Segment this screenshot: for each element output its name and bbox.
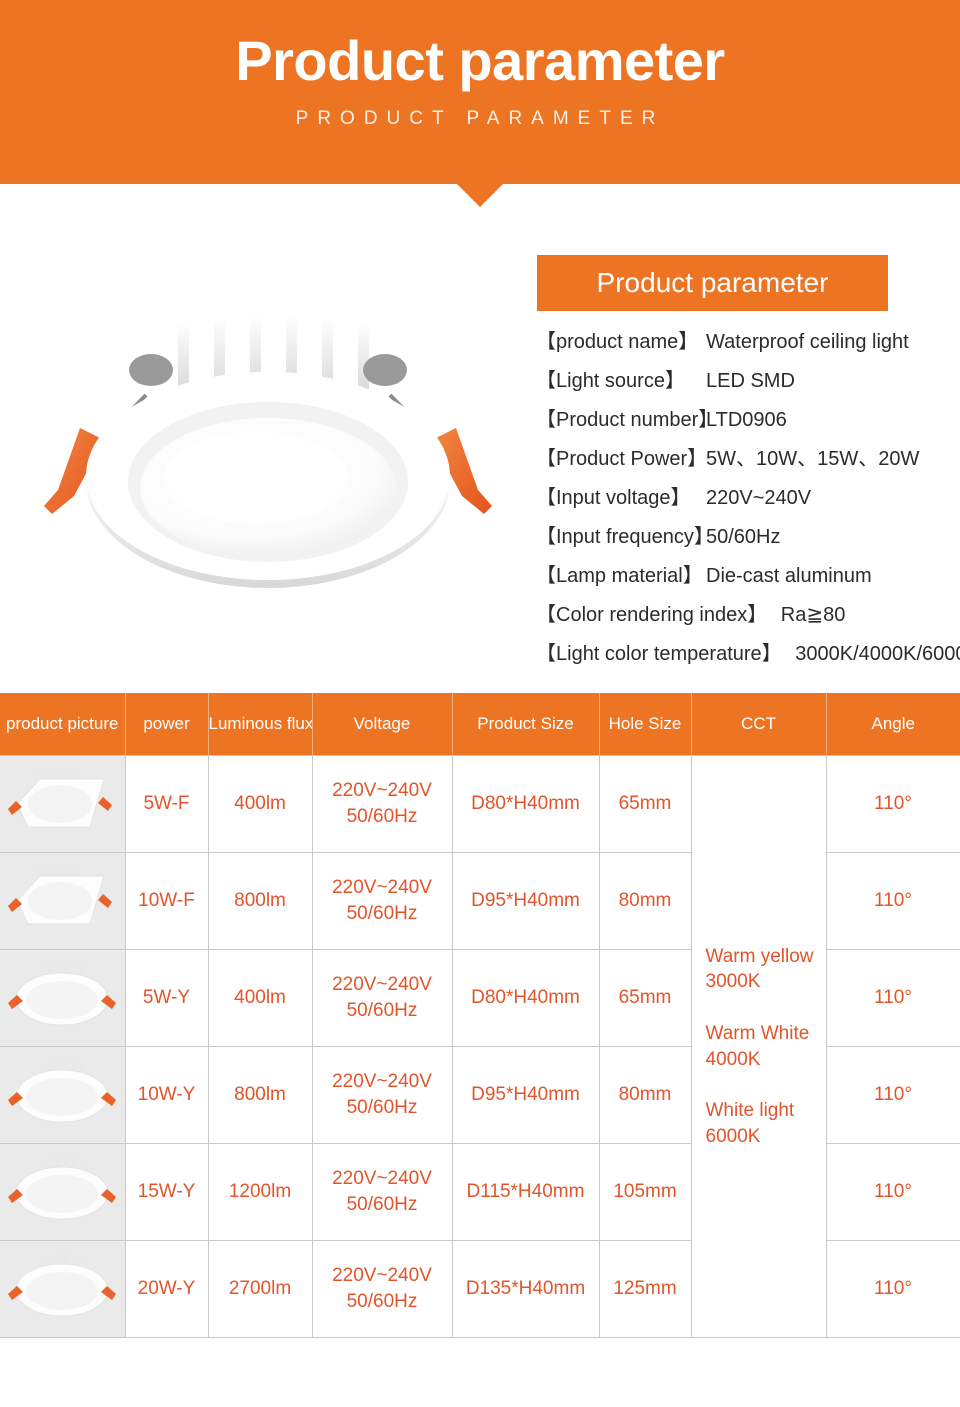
voltage-line-1: 220V~240V — [313, 972, 452, 998]
voltage-line-2: 50/60Hz — [313, 998, 452, 1024]
spec-label: 【Product number】 — [536, 403, 706, 432]
voltage-line-1: 220V~240V — [313, 875, 452, 901]
voltage-line-2: 50/60Hz — [313, 804, 452, 830]
round-downlight-thumb-icon — [0, 1242, 125, 1336]
spec-label: 【Color rendering index】 — [536, 604, 767, 626]
spec-label: 【Lamp material】 — [536, 559, 706, 588]
hole-size-cell: 80mm — [599, 1047, 691, 1144]
banner-subtitle: PRODUCT PARAMETER — [0, 106, 960, 132]
banner-title: Product parameter — [0, 28, 960, 94]
hole-size-cell: 65mm — [599, 950, 691, 1047]
column-header-hole-size: Hole Size — [599, 693, 691, 756]
spec-row: 【Input voltage】 220V~240V — [536, 481, 956, 520]
square-downlight-thumb-icon — [0, 757, 125, 851]
cct-name: Warm yellow — [706, 944, 826, 970]
cct-option: Warm White 4000K — [706, 1021, 826, 1072]
power-cell: 5W-Y — [125, 950, 208, 1047]
round-downlight-thumb-icon — [0, 1145, 125, 1239]
spec-value: LED SMD — [706, 370, 956, 393]
product-picture-cell — [0, 1144, 125, 1241]
table-row: 5W-F 400lm 220V~240V 50/60Hz D80*H40mm 6… — [0, 756, 960, 853]
hole-size-cell: 80mm — [599, 853, 691, 950]
spec-row: 【product name】 Waterproof ceiling light — [536, 325, 956, 364]
flux-cell: 1200lm — [208, 1144, 312, 1241]
product-picture-cell — [0, 853, 125, 950]
spec-row: 【Light color temperature】 3000K/4000K/60… — [536, 637, 956, 676]
product-size-cell: D95*H40mm — [452, 853, 599, 950]
spec-label: 【Product Power】 — [536, 442, 706, 471]
power-cell: 10W-F — [125, 853, 208, 950]
product-picture-cell — [0, 756, 125, 853]
spec-value: Ra≧80 — [781, 604, 846, 626]
spec-row: 【Product number】 LTD0906 — [536, 403, 956, 442]
column-header-power: power — [125, 693, 208, 756]
spec-row: 【Light source】 LED SMD — [536, 364, 956, 403]
column-header-voltage: Voltage — [312, 693, 452, 756]
voltage-cell: 220V~240V 50/60Hz — [312, 1144, 452, 1241]
spec-label: 【Input frequency】 — [536, 520, 706, 549]
product-size-cell: D95*H40mm — [452, 1047, 599, 1144]
voltage-cell: 220V~240V 50/60Hz — [312, 756, 452, 853]
cct-value: 4000K — [706, 1047, 826, 1073]
page-banner: Product parameter PRODUCT PARAMETER — [0, 0, 960, 184]
flux-cell: 400lm — [208, 950, 312, 1047]
spec-value: Waterproof ceiling light — [706, 331, 956, 354]
spec-value: 3000K/4000K/6000K — [795, 643, 960, 665]
product-picture-cell — [0, 950, 125, 1047]
cct-name: White light — [706, 1098, 826, 1124]
angle-cell: 110° — [826, 1241, 960, 1338]
voltage-line-2: 50/60Hz — [313, 1192, 452, 1218]
table-header-row: product picture power Luminous flux Volt… — [0, 693, 960, 756]
product-size-cell: D80*H40mm — [452, 950, 599, 1047]
flux-cell: 400lm — [208, 756, 312, 853]
voltage-cell: 220V~240V 50/60Hz — [312, 1047, 452, 1144]
cct-value: 6000K — [706, 1124, 826, 1150]
spec-label: 【Input voltage】 — [536, 481, 706, 510]
spec-label: 【Light source】 — [536, 364, 706, 393]
power-cell: 15W-Y — [125, 1144, 208, 1241]
voltage-line-2: 50/60Hz — [313, 1289, 452, 1315]
column-header-product-size: Product Size — [452, 693, 599, 756]
spec-value: LTD0906 — [706, 409, 956, 432]
spec-row: 【Input frequency】 50/60Hz — [536, 520, 956, 559]
angle-cell: 110° — [826, 853, 960, 950]
product-size-cell: D115*H40mm — [452, 1144, 599, 1241]
column-header-cct: CCT — [691, 693, 826, 756]
spec-row: 【Product Power】 5W、10W、15W、20W — [536, 442, 956, 481]
voltage-line-2: 50/60Hz — [313, 901, 452, 927]
voltage-cell: 220V~240V 50/60Hz — [312, 950, 452, 1047]
product-size-cell: D135*H40mm — [452, 1241, 599, 1338]
angle-cell: 110° — [826, 1047, 960, 1144]
flux-cell: 2700lm — [208, 1241, 312, 1338]
spec-label: 【product name】 — [536, 325, 706, 354]
product-size-cell: D80*H40mm — [452, 756, 599, 853]
column-header-luminous-flux: Luminous flux — [208, 693, 312, 756]
voltage-line-1: 220V~240V — [313, 1263, 452, 1289]
banner-notch — [457, 184, 503, 207]
square-downlight-thumb-icon — [0, 854, 125, 948]
spec-list: 【product name】 Waterproof ceiling light … — [536, 325, 956, 676]
voltage-line-1: 220V~240V — [313, 1166, 452, 1192]
column-header-product-picture: product picture — [0, 693, 125, 756]
spec-value: 50/60Hz — [706, 526, 956, 549]
cct-name: Warm White — [706, 1021, 826, 1047]
hero-product-image — [18, 300, 518, 620]
angle-cell: 110° — [826, 950, 960, 1047]
product-picture-cell — [0, 1047, 125, 1144]
round-downlight-thumb-icon — [0, 1048, 125, 1142]
column-header-angle: Angle — [826, 693, 960, 756]
power-cell: 5W-F — [125, 756, 208, 853]
cct-value: 3000K — [706, 969, 826, 995]
round-downlight-thumb-icon — [0, 951, 125, 1045]
hole-size-cell: 125mm — [599, 1241, 691, 1338]
hole-size-cell: 105mm — [599, 1144, 691, 1241]
voltage-cell: 220V~240V 50/60Hz — [312, 853, 452, 950]
angle-cell: 110° — [826, 1144, 960, 1241]
cct-option: White light 6000K — [706, 1098, 826, 1149]
voltage-cell: 220V~240V 50/60Hz — [312, 1241, 452, 1338]
angle-cell: 110° — [826, 756, 960, 853]
voltage-line-1: 220V~240V — [313, 778, 452, 804]
spec-label: 【Light color temperature】 — [536, 643, 782, 665]
spec-value: Die-cast aluminum — [706, 565, 956, 588]
product-picture-cell — [0, 1241, 125, 1338]
power-cell: 20W-Y — [125, 1241, 208, 1338]
spec-value: 220V~240V — [706, 487, 956, 510]
flux-cell: 800lm — [208, 853, 312, 950]
parameter-table: product picture power Luminous flux Volt… — [0, 693, 960, 1338]
spec-value: 5W、10W、15W、20W — [706, 442, 956, 471]
cct-option: Warm yellow 3000K — [706, 944, 826, 995]
power-cell: 10W-Y — [125, 1047, 208, 1144]
voltage-line-2: 50/60Hz — [313, 1095, 452, 1121]
spec-row: 【Color rendering index】 Ra≧80 — [536, 598, 956, 637]
voltage-line-1: 220V~240V — [313, 1069, 452, 1095]
flux-cell: 800lm — [208, 1047, 312, 1144]
spec-row: 【Lamp material】 Die-cast aluminum — [536, 559, 956, 598]
hole-size-cell: 65mm — [599, 756, 691, 853]
cct-cell: Warm yellow 3000K Warm White 4000K White… — [691, 756, 826, 1338]
spec-panel-badge: Product parameter — [537, 255, 888, 311]
